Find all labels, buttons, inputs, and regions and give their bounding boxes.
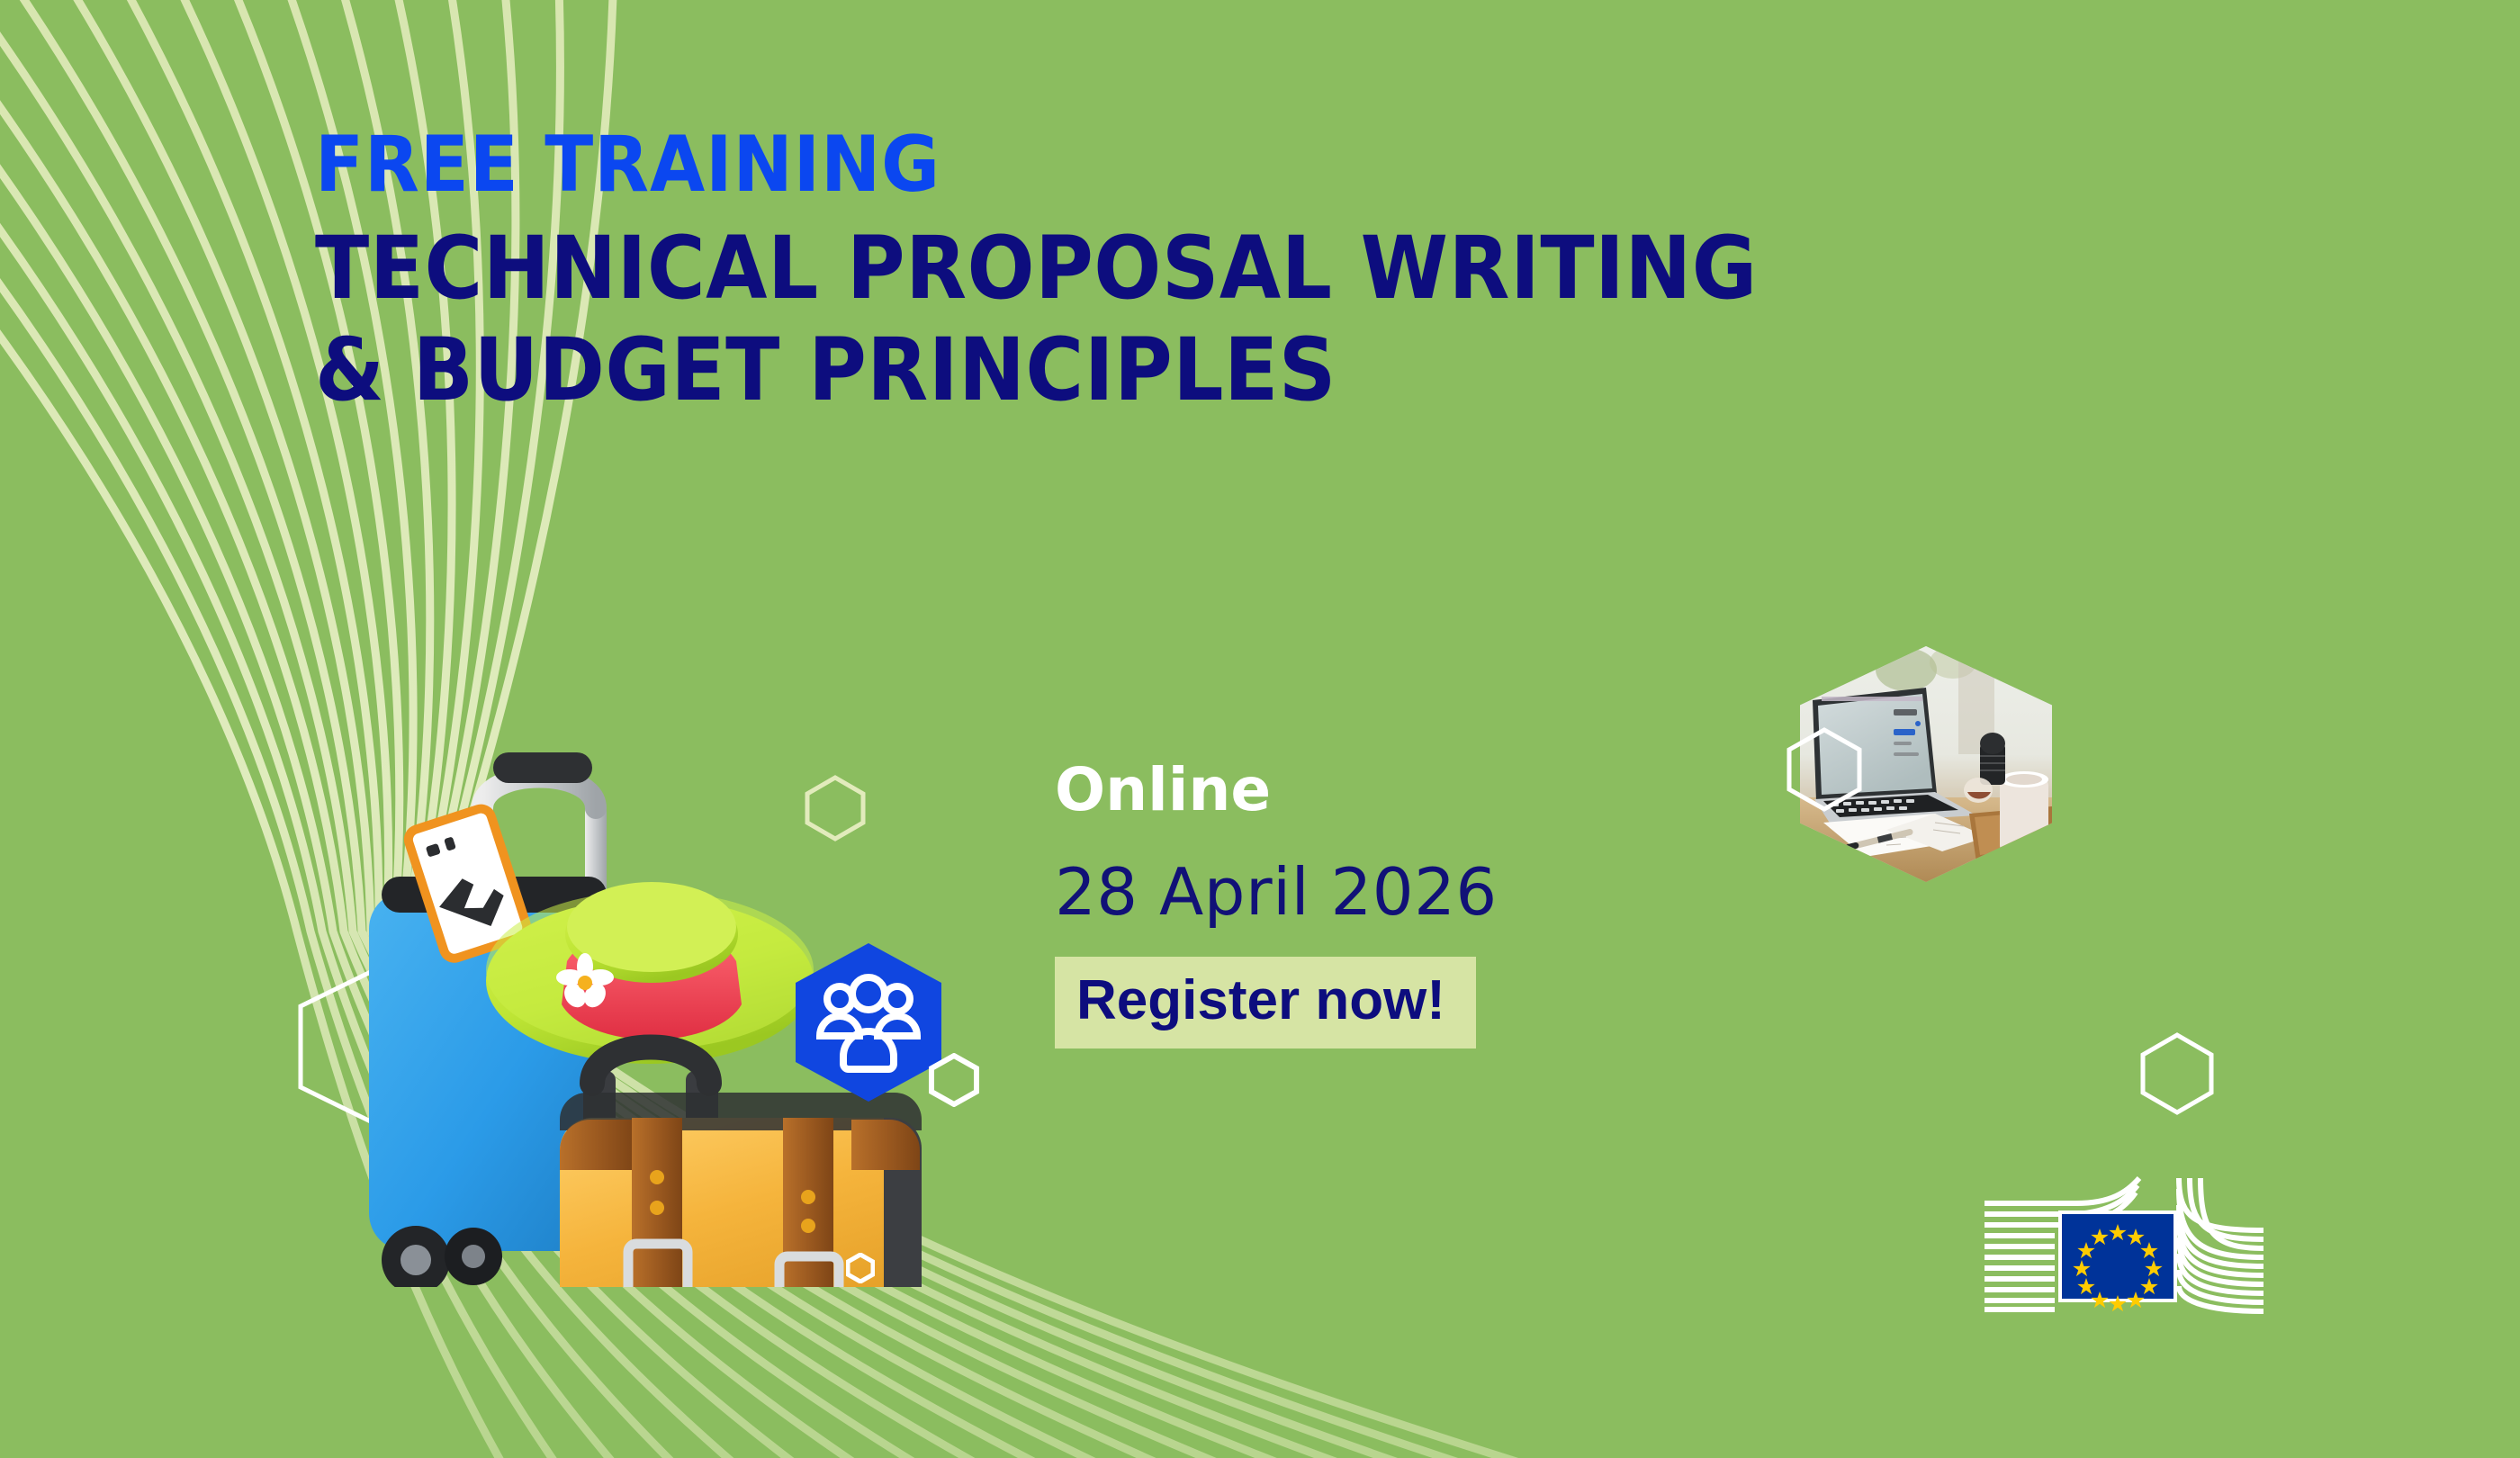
- kicker-free-training: FREE TRAINING: [315, 126, 1971, 203]
- title-line-1: TECHNICAL PROPOSAL WRITING: [315, 218, 1971, 319]
- hex-outline-white-tiny: [846, 1253, 875, 1283]
- hex-outline-white-photo: [1785, 727, 1864, 812]
- hex-outline-white-mid: [929, 1053, 979, 1107]
- register-now-button[interactable]: Register now!: [1055, 957, 1476, 1048]
- eu-flag: [2058, 1210, 2177, 1311]
- headline-block: FREE TRAINING TECHNICAL PROPOSAL WRITING…: [315, 126, 2115, 422]
- event-info-block: Online 28 April 2026 Register now!: [1055, 760, 1685, 1048]
- hex-outline-white-right: [2138, 1032, 2216, 1115]
- eu-logo-right-lines: [2179, 1178, 2263, 1311]
- promo-banner: FREE TRAINING TECHNICAL PROPOSAL WRITING…: [0, 0, 2520, 1458]
- hex-outline-cream-small: [804, 775, 867, 841]
- event-mode-label: Online: [1055, 760, 1685, 820]
- title-line-2: & BUDGET PRINCIPLES: [315, 319, 1971, 421]
- european-commission-logo: [1975, 1174, 2272, 1318]
- event-date-label: 28 April 2026: [1055, 859, 1685, 924]
- people-group-badge: [792, 941, 945, 1103]
